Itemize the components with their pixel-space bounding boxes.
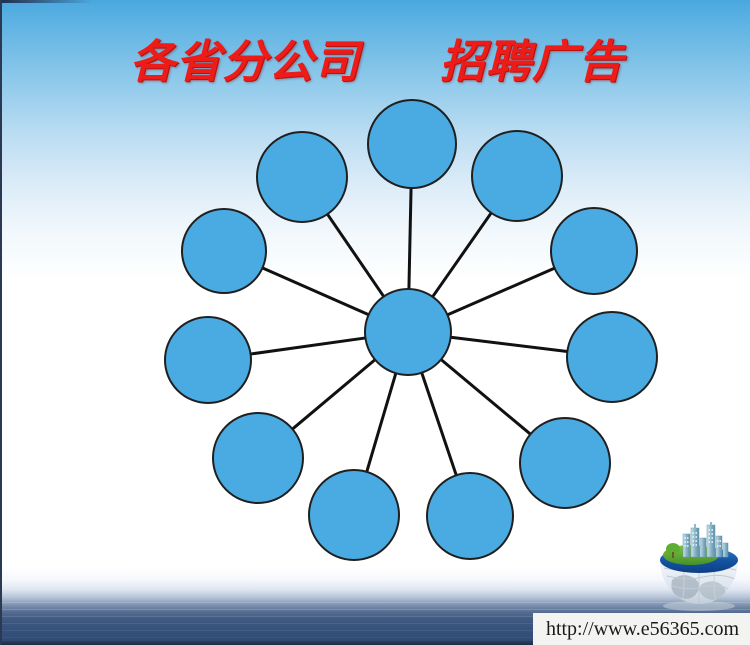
spoke-line-11 — [327, 213, 384, 297]
watermark-url-text: http://www.e56365.com — [546, 618, 739, 641]
branch-node-11[interactable] — [257, 132, 347, 222]
branch-node-5[interactable] — [520, 418, 610, 508]
branch-node-1[interactable] — [368, 100, 456, 188]
logo-city-skyline — [683, 522, 728, 557]
globe-city-logo — [650, 522, 748, 614]
spoke-line-8 — [292, 359, 376, 430]
spoke-line-7 — [366, 372, 396, 473]
center-hub-node[interactable] — [365, 289, 451, 375]
branch-node-2[interactable] — [472, 131, 562, 221]
spoke-line-6 — [421, 372, 456, 476]
branch-node-4[interactable] — [567, 312, 657, 402]
spoke-line-1 — [409, 187, 411, 290]
slide-canvas: 各省分公司招聘广告 — [0, 0, 750, 645]
branch-node-10[interactable] — [182, 209, 266, 293]
spoke-line-10 — [262, 268, 370, 316]
branch-node-6[interactable] — [427, 473, 513, 559]
spoke-line-9 — [250, 338, 367, 354]
branch-node-3[interactable] — [551, 208, 637, 294]
spoke-line-2 — [432, 212, 492, 298]
spoke-line-3 — [447, 268, 556, 315]
branch-node-9[interactable] — [165, 317, 251, 403]
url-watermark-bar: http://www.e56365.com — [533, 613, 750, 645]
spoke-line-5 — [440, 359, 531, 435]
spoke-line-4 — [450, 337, 569, 352]
branch-node-8[interactable] — [213, 413, 303, 503]
node-circles-group — [165, 100, 657, 560]
branch-node-7[interactable] — [309, 470, 399, 560]
hub-and-spoke-diagram — [2, 0, 750, 645]
